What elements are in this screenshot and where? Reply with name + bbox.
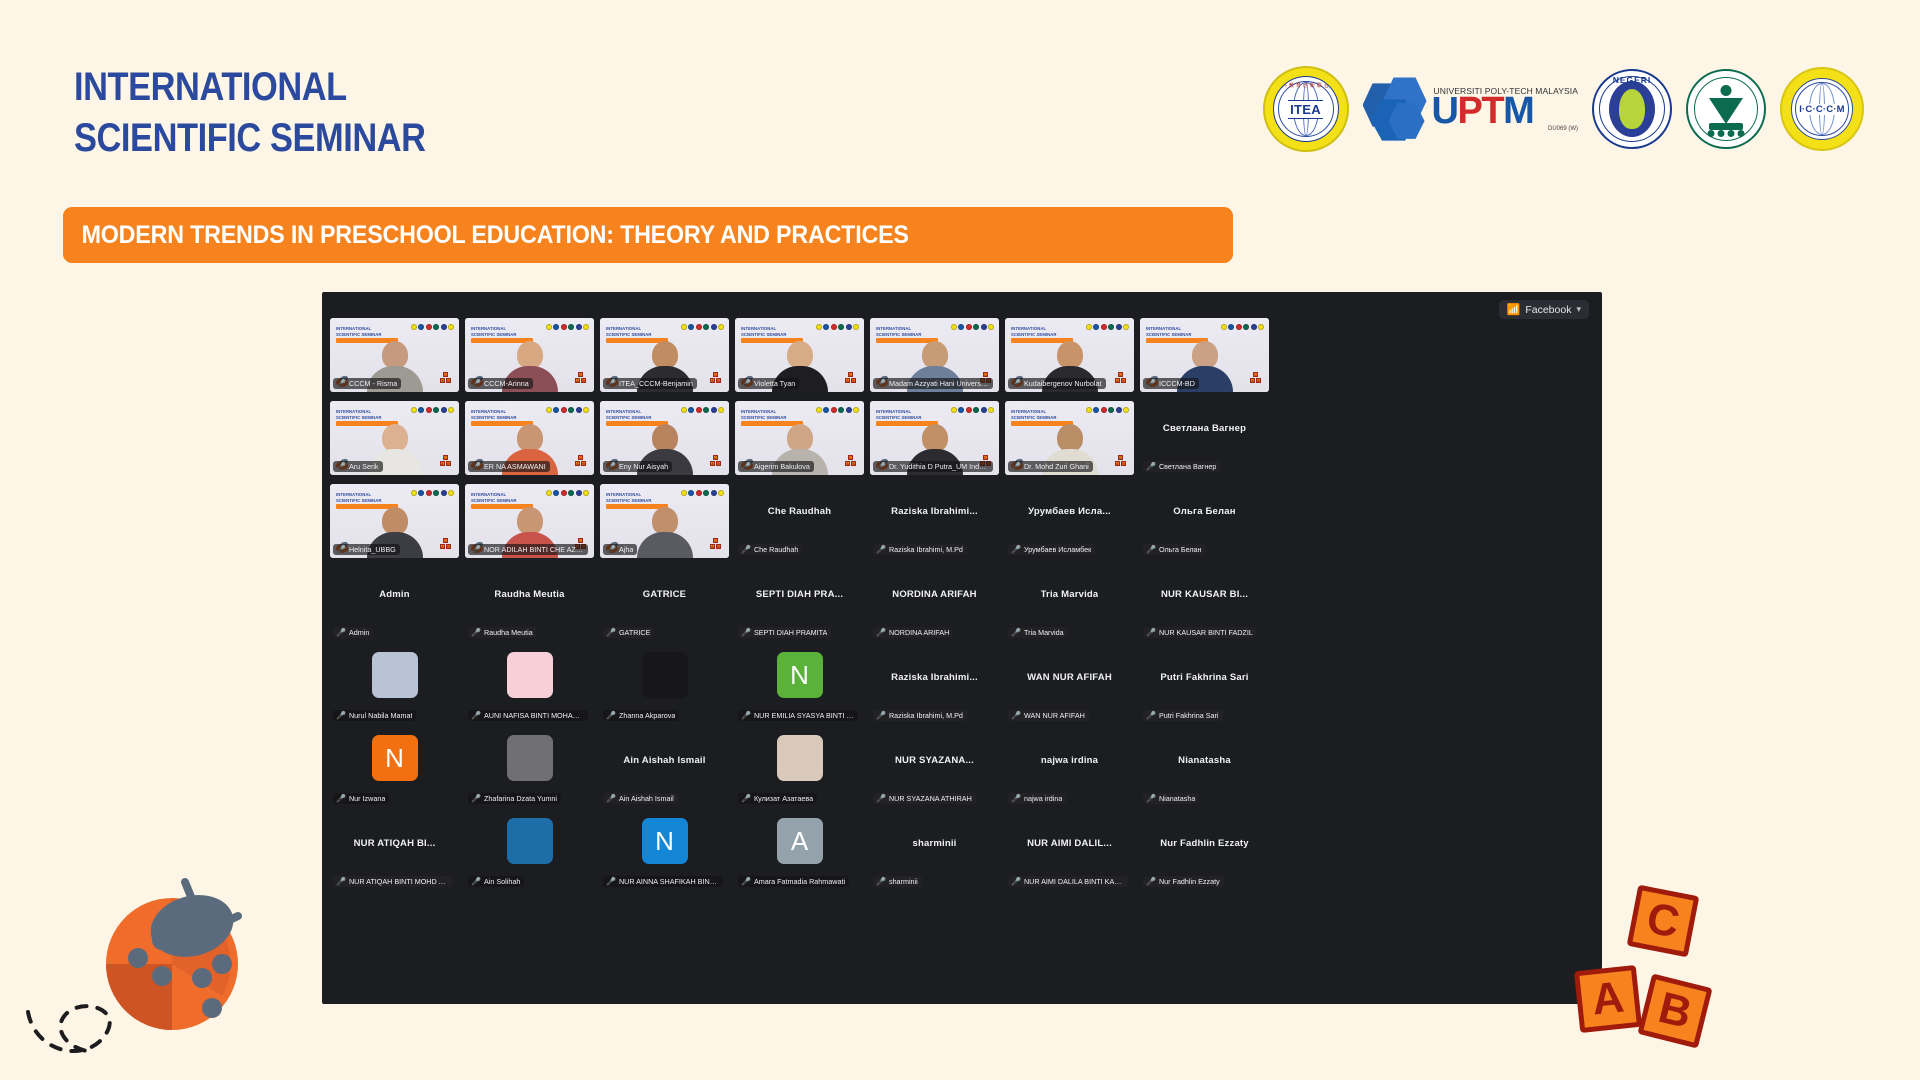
muted-mic-icon: 🎤 xyxy=(1146,379,1156,388)
participant-silhouette xyxy=(637,507,693,558)
page-title-line2: SCIENTIFIC SEMINAR xyxy=(74,113,426,164)
slide-title: INTERNATIONALSCIENTIFIC SEMINAR xyxy=(606,492,652,504)
participant-tile[interactable]: INTERNATIONALSCIENTIFIC SEMINARCAB🎤ICCCM… xyxy=(1140,318,1269,392)
participant-tile[interactable]: NUR AIMI DALIL...🎤NUR AIMI DALILA BINTI … xyxy=(1005,816,1134,890)
participant-tile[interactable]: Nur Fadhlin Ezzaty🎤Nur Fadhlin Ezzaty xyxy=(1140,816,1269,890)
participant-tile[interactable]: N🎤NUR EMILIA SYASYA BINTI MAZLI (K... xyxy=(735,650,864,724)
participant-name: GATRICE xyxy=(619,628,650,637)
participant-name-chip: 🎤NUR ATIQAH BINTI MOHD ASIN xyxy=(333,876,453,887)
participant-name: WAN NUR AFIFAH xyxy=(1024,711,1085,720)
muted-mic-icon: 🎤 xyxy=(741,545,751,554)
participant-display-name: NUR ATIQAH BI... xyxy=(354,838,436,849)
participant-name: NORDINA ARIFAH xyxy=(889,628,949,637)
participant-photo-avatar xyxy=(777,735,823,781)
slide-logo-row xyxy=(411,407,455,413)
muted-mic-icon: 🎤 xyxy=(876,462,886,471)
participant-tile[interactable]: 🎤Nurul Nabila Mamat xyxy=(330,650,459,724)
block-a: A xyxy=(1574,965,1642,1033)
participant-name: Zhafarina Dzata Yumni xyxy=(484,794,557,803)
participant-tile[interactable]: Ольга Белан🎤Ольга Белан xyxy=(1140,484,1269,558)
participant-tile[interactable]: INTERNATIONALSCIENTIFIC SEMINARCAB🎤Aiger… xyxy=(735,401,864,475)
slide-abc-blocks-icon: CAB xyxy=(440,455,451,469)
participant-name-chip: 🎤Kudaibergenov Nurbolat xyxy=(1008,378,1106,389)
participant-name: Dr. Mohd Zuri Ghani xyxy=(1024,462,1089,471)
participant-name: ICCCM-BD xyxy=(1159,379,1195,388)
participant-name: Tria Marvida xyxy=(1024,628,1064,637)
participant-display-name: Raudha Meutia xyxy=(494,589,564,600)
muted-mic-icon: 🎤 xyxy=(606,877,616,886)
participant-display-name: NUR SYAZANA... xyxy=(895,755,974,766)
muted-mic-icon: 🎤 xyxy=(471,711,481,720)
participant-tile[interactable]: Raziska Ibrahimi...🎤Raziska Ibrahimi, M.… xyxy=(870,650,999,724)
participant-display-name: NORDINA ARIFAH xyxy=(892,589,976,600)
participant-name: Ольга Белан xyxy=(1159,545,1202,554)
participant-name-chip: 🎤sharminii xyxy=(873,876,922,887)
participant-name-chip: 🎤Nur Izwana xyxy=(333,793,389,804)
participant-name-chip: 🎤ICCCM-BD xyxy=(1143,378,1199,389)
participant-photo-avatar xyxy=(642,652,688,698)
slide-title: INTERNATIONALSCIENTIFIC SEMINAR xyxy=(336,326,382,338)
participant-display-name: Ольга Белан xyxy=(1173,506,1235,517)
slide-abc-blocks-icon: CAB xyxy=(710,538,721,552)
muted-mic-icon: 🎤 xyxy=(471,628,481,637)
muted-mic-icon: 🎤 xyxy=(606,711,616,720)
slide-logo-row xyxy=(816,407,860,413)
muted-mic-icon: 🎤 xyxy=(471,379,481,388)
participant-tile[interactable]: NUR SYAZANA...🎤NUR SYAZANA ATHIRAH xyxy=(870,733,999,807)
muted-mic-icon: 🎤 xyxy=(606,794,616,803)
muted-mic-icon: 🎤 xyxy=(336,711,346,720)
participant-name-chip: 🎤ITEA_CCCM-Benjamin xyxy=(603,378,697,389)
participant-name: AUNI NAFISA BINTI MOHAMAD SH... xyxy=(484,711,584,720)
participant-tile[interactable]: INTERNATIONALSCIENTIFIC SEMINARCAB🎤Dr. M… xyxy=(1005,401,1134,475)
participant-photo-avatar xyxy=(507,735,553,781)
participant-tile[interactable]: Урумбаев Исла...🎤Урумбаев Исламбек xyxy=(1005,484,1134,558)
slide-title: INTERNATIONALSCIENTIFIC SEMINAR xyxy=(741,326,787,338)
slide-title: INTERNATIONALSCIENTIFIC SEMINAR xyxy=(471,409,517,421)
participant-tile[interactable]: WAN NUR AFIFAH🎤WAN NUR AFIFAH xyxy=(1005,650,1134,724)
abc-blocks-icon: C A B xyxy=(1572,890,1752,1070)
muted-mic-icon: 🎤 xyxy=(741,794,751,803)
muted-mic-icon: 🎤 xyxy=(1011,628,1021,637)
participant-name-chip: 🎤Nur Fadhlin Ezzaty xyxy=(1143,876,1224,887)
slide-title: INTERNATIONALSCIENTIFIC SEMINAR xyxy=(471,326,517,338)
participant-display-name: NUR AIMI DALIL... xyxy=(1027,838,1112,849)
slide-title: INTERNATIONALSCIENTIFIC SEMINAR xyxy=(606,409,652,421)
participant-tile[interactable]: N🎤Nur Izwana xyxy=(330,733,459,807)
participant-name: Che Raudhah xyxy=(754,545,798,554)
participant-name-chip: 🎤Урумбаев Исламбек xyxy=(1008,544,1095,555)
participant-tile[interactable]: INTERNATIONALSCIENTIFIC SEMINARCAB🎤Dr. Y… xyxy=(870,401,999,475)
itea-logo: 中 外 教 育 创 新 联 合 会 ITEA xyxy=(1263,66,1349,152)
participant-name: Nur Fadhlin Ezzaty xyxy=(1159,877,1220,886)
rss-icon: 📶 xyxy=(1507,303,1521,316)
participant-tile[interactable]: INTERNATIONALSCIENTIFIC SEMINARCAB🎤CCCM … xyxy=(330,318,459,392)
participant-tile[interactable]: INTERNATIONALSCIENTIFIC SEMINARCAB🎤CCCM-… xyxy=(465,318,594,392)
participant-initial-avatar: N xyxy=(777,652,823,698)
participant-tile[interactable]: INTERNATIONALSCIENTIFIC SEMINARCAB🎤Ajha xyxy=(600,484,729,558)
slide-title: INTERNATIONALSCIENTIFIC SEMINAR xyxy=(1011,326,1057,338)
muted-mic-icon: 🎤 xyxy=(876,628,886,637)
slide-logo-row xyxy=(1086,324,1130,330)
slide-logo-row xyxy=(951,324,995,330)
subtitle-banner-text: MODERN TRENDS IN PRESCHOOL EDUCATION: TH… xyxy=(63,221,909,250)
participant-display-name: Putri Fakhrina Sari xyxy=(1160,672,1248,683)
participant-name: sharminii xyxy=(889,877,918,886)
participant-name-chip: 🎤Tria Marvida xyxy=(1008,627,1068,638)
muted-mic-icon: 🎤 xyxy=(876,545,886,554)
muted-mic-icon: 🎤 xyxy=(606,379,616,388)
participant-display-name: Nur Fadhlin Ezzaty xyxy=(1160,838,1249,849)
participant-name-chip: 🎤WAN NUR AFIFAH xyxy=(1008,710,1089,721)
chevron-down-icon: ▾ xyxy=(1576,304,1581,315)
slide-abc-blocks-icon: CAB xyxy=(845,372,856,386)
pedagogical-university-logo xyxy=(1686,69,1766,149)
slide-abc-blocks-icon: CAB xyxy=(575,455,586,469)
participant-tile[interactable]: 🎤Zhanna Akparova xyxy=(600,650,729,724)
participant-name-chip: 🎤Violetta Tyan xyxy=(738,378,799,389)
participant-name-chip: 🎤Raudha Meutia xyxy=(468,627,537,638)
muted-mic-icon: 🎤 xyxy=(1011,462,1021,471)
participant-row: NUR ATIQAH BI...🎤NUR ATIQAH BINTI MOHD A… xyxy=(330,816,1594,890)
participant-name-chip: 🎤CCCM - Risma xyxy=(333,378,401,389)
muted-mic-icon: 🎤 xyxy=(606,462,616,471)
participant-name-chip: 🎤Кулизат Азатаева xyxy=(738,793,817,804)
participant-display-name: WAN NUR AFIFAH xyxy=(1027,672,1112,683)
participant-tile[interactable]: najwa irdina🎤najwa irdina xyxy=(1005,733,1134,807)
participant-name-chip: 🎤Nianatasha xyxy=(1143,793,1199,804)
participant-name: NUR ATIQAH BINTI MOHD ASIN xyxy=(349,877,449,886)
slide-abc-blocks-icon: CAB xyxy=(575,372,586,386)
slide-logo-row xyxy=(1221,324,1265,330)
participant-name-chip: 🎤Che Raudhah xyxy=(738,544,802,555)
participant-tile[interactable]: 🎤Кулизат Азатаева xyxy=(735,733,864,807)
participant-display-name: Ain Aishah Ismail xyxy=(623,755,705,766)
participant-name-chip: 🎤NOR ADILAH BINTI CHE AZIS _ xyxy=(468,544,588,555)
participant-name: Кулизат Азатаева xyxy=(754,794,813,803)
participant-tile[interactable]: N🎤NUR AINNA SHAFIKAH BINTI MAH... xyxy=(600,816,729,890)
slide-logo-row xyxy=(546,324,590,330)
participant-tile[interactable]: Светлана Вагнер🎤Светлана Вагнер xyxy=(1140,401,1269,475)
uptm-hex-mark xyxy=(1363,76,1429,142)
participant-name-chip: 🎤NUR SYAZANA ATHIRAH xyxy=(873,793,976,804)
slide-logo-row xyxy=(411,490,455,496)
participant-name-chip: 🎤Aru Serik xyxy=(333,461,383,472)
participant-name: Урумбаев Исламбек xyxy=(1024,545,1091,554)
participant-name-chip: 🎤Zhanna Akparova xyxy=(603,710,679,721)
muted-mic-icon: 🎤 xyxy=(336,628,346,637)
participant-name: Nur Izwana xyxy=(349,794,385,803)
participant-name: SEPTI DIAH PRAMITA xyxy=(754,628,827,637)
muted-mic-icon: 🎤 xyxy=(336,379,346,388)
block-b: B xyxy=(1637,973,1712,1048)
muted-mic-icon: 🎤 xyxy=(1146,462,1156,471)
participant-tile[interactable]: NORDINA ARIFAH🎤NORDINA ARIFAH xyxy=(870,567,999,641)
participant-name: najwa irdina xyxy=(1024,794,1062,803)
slide-abc-blocks-icon: CAB xyxy=(440,538,451,552)
muted-mic-icon: 🎤 xyxy=(1011,711,1021,720)
muted-mic-icon: 🎤 xyxy=(1146,628,1156,637)
participant-name-chip: 🎤Raziska Ibrahimi, M.Pd xyxy=(873,544,967,555)
muted-mic-icon: 🎤 xyxy=(606,545,616,554)
slide-logo-row xyxy=(546,407,590,413)
universitas-negeri-malang-logo: NEGERI xyxy=(1592,69,1672,149)
subtitle-banner: MODERN TRENDS IN PRESCHOOL EDUCATION: TH… xyxy=(63,207,1233,263)
stream-label: Facebook xyxy=(1525,304,1571,316)
participant-display-name: NUR KAUSAR BI... xyxy=(1161,589,1248,600)
slide-abc-blocks-icon: CAB xyxy=(440,372,451,386)
slide-logo-row xyxy=(681,324,725,330)
participant-photo-avatar xyxy=(507,818,553,864)
participant-row: Admin🎤AdminRaudha Meutia🎤Raudha MeutiaGA… xyxy=(330,567,1594,641)
participant-initial-avatar: A xyxy=(777,818,823,864)
participant-tile[interactable]: A🎤Amara Fatmadia Rahmawati xyxy=(735,816,864,890)
muted-mic-icon: 🎤 xyxy=(1146,794,1156,803)
participant-name: Nurul Nabila Mamat xyxy=(349,711,413,720)
participant-name: CCCM - Risma xyxy=(349,379,397,388)
participant-name-chip: 🎤Nurul Nabila Mamat xyxy=(333,710,416,721)
slide-abc-blocks-icon: CAB xyxy=(710,455,721,469)
participant-name-chip: 🎤NORDINA ARIFAH xyxy=(873,627,953,638)
participant-name: Violetta Tyan xyxy=(754,379,795,388)
participant-tile[interactable]: NUR KAUSAR BI...🎤NUR KAUSAR BINTI FADZIL xyxy=(1140,567,1269,641)
participant-tile[interactable]: INTERNATIONALSCIENTIFIC SEMINARCAB🎤Helni… xyxy=(330,484,459,558)
muted-mic-icon: 🎤 xyxy=(336,794,346,803)
muted-mic-icon: 🎤 xyxy=(741,379,751,388)
slide-title: INTERNATIONALSCIENTIFIC SEMINAR xyxy=(336,409,382,421)
muted-mic-icon: 🎤 xyxy=(741,628,751,637)
slide-logo-row xyxy=(546,490,590,496)
participant-name: Amara Fatmadia Rahmawati xyxy=(754,877,845,886)
participant-name-chip: 🎤Putri Fakhrina Sari xyxy=(1143,710,1223,721)
participant-name: Ain Aishah Ismail xyxy=(619,794,674,803)
muted-mic-icon: 🎤 xyxy=(741,711,751,720)
participant-name: NUR EMILIA SYASYA BINTI MAZLI (K... xyxy=(754,711,854,720)
participant-name: NUR SYAZANA ATHIRAH xyxy=(889,794,972,803)
stream-status-chip[interactable]: 📶 Facebook ▾ xyxy=(1499,300,1589,319)
participant-name: Aigerim Bakulova xyxy=(754,462,810,471)
page-title: INTERNATIONAL SCIENTIFIC SEMINAR xyxy=(74,62,426,164)
participant-tile[interactable]: Admin🎤Admin xyxy=(330,567,459,641)
muted-mic-icon: 🎤 xyxy=(1146,711,1156,720)
participant-grid: INTERNATIONALSCIENTIFIC SEMINARCAB🎤CCCM … xyxy=(330,318,1594,1000)
participant-tile[interactable]: INTERNATIONALSCIENTIFIC SEMINARCAB🎤Viole… xyxy=(735,318,864,392)
icccm-logo: I·C·C·C·M xyxy=(1780,67,1864,151)
slide-logo-row xyxy=(951,407,995,413)
participant-display-name: Урумбаев Исла... xyxy=(1028,506,1111,517)
participant-tile[interactable]: SEPTI DIAH PRA...🎤SEPTI DIAH PRAMITA xyxy=(735,567,864,641)
slide-title: INTERNATIONALSCIENTIFIC SEMINAR xyxy=(741,409,787,421)
participant-name: Helnita_UBBG xyxy=(349,545,396,554)
participant-name: Светлана Вагнер xyxy=(1159,462,1216,471)
slide-abc-blocks-icon: CAB xyxy=(1115,372,1126,386)
participant-tile[interactable]: GATRICE🎤GATRICE xyxy=(600,567,729,641)
participant-name: Raziska Ibrahimi, M.Pd xyxy=(889,711,963,720)
muted-mic-icon: 🎤 xyxy=(471,794,481,803)
slide-title: INTERNATIONALSCIENTIFIC SEMINAR xyxy=(606,326,652,338)
participant-name: Ajha xyxy=(619,545,633,554)
participant-name-chip: 🎤CCCM-Arinna xyxy=(468,378,533,389)
participant-tile[interactable]: Raudha Meutia🎤Raudha Meutia xyxy=(465,567,594,641)
participant-display-name: Che Raudhah xyxy=(768,506,831,517)
participant-name-chip: 🎤SEPTI DIAH PRAMITA xyxy=(738,627,831,638)
participant-tile[interactable]: Nianatasha🎤Nianatasha xyxy=(1140,733,1269,807)
participant-display-name: Светлана Вагнер xyxy=(1163,423,1246,434)
participant-tile[interactable]: INTERNATIONALSCIENTIFIC SEMINARCAB🎤ER NA… xyxy=(465,401,594,475)
participant-display-name: GATRICE xyxy=(643,589,686,600)
participant-name: Admin xyxy=(349,628,369,637)
slide-abc-blocks-icon: CAB xyxy=(1115,455,1126,469)
slide-title: INTERNATIONALSCIENTIFIC SEMINAR xyxy=(876,326,922,338)
participant-name-chip: 🎤Helnita_UBBG xyxy=(333,544,400,555)
participant-name-chip: 🎤Ain Solihah xyxy=(468,876,524,887)
participant-name-chip: 🎤Ain Aishah Ismail xyxy=(603,793,678,804)
participant-initial-avatar: N xyxy=(372,735,418,781)
participant-name: Raudha Meutia xyxy=(484,628,533,637)
participant-name-chip: 🎤Dr. Yudithia D Putra_UM Indonesia xyxy=(873,461,993,472)
participant-photo-avatar xyxy=(507,652,553,698)
participant-name: NUR KAUSAR BINTI FADZIL xyxy=(1159,628,1253,637)
participant-name-chip: 🎤Aigerim Bakulova xyxy=(738,461,814,472)
poster-page: INTERNATIONAL SCIENTIFIC SEMINAR MODERN … xyxy=(0,0,1920,1080)
participant-tile[interactable]: sharminii🎤sharminii xyxy=(870,816,999,890)
participant-tile[interactable]: 🎤AUNI NAFISA BINTI MOHAMAD SH... xyxy=(465,650,594,724)
participant-name-chip: 🎤Ajha xyxy=(603,544,637,555)
participant-name-chip: 🎤najwa irdina xyxy=(1008,793,1066,804)
uptm-logo: UNIVERSITI POLY-TECH MALAYSIA UPTM DU069… xyxy=(1363,71,1578,147)
participant-name: NOR ADILAH BINTI CHE AZIS _ xyxy=(484,545,584,554)
participant-photo-avatar xyxy=(372,652,418,698)
slide-logo-row xyxy=(681,490,725,496)
participant-display-name: sharminii xyxy=(912,838,956,849)
participant-name-chip: 🎤AUNI NAFISA BINTI MOHAMAD SH... xyxy=(468,710,588,721)
participant-name-chip: 🎤Zhafarina Dzata Yumni xyxy=(468,793,561,804)
participant-tile[interactable]: INTERNATIONALSCIENTIFIC SEMINARCAB🎤ITEA_… xyxy=(600,318,729,392)
slide-logo-row xyxy=(681,407,725,413)
muted-mic-icon: 🎤 xyxy=(1011,794,1021,803)
slide-abc-blocks-icon: CAB xyxy=(710,372,721,386)
slide-logo-row xyxy=(1086,407,1130,413)
muted-mic-icon: 🎤 xyxy=(336,462,346,471)
participant-display-name: Admin xyxy=(379,589,410,600)
muted-mic-icon: 🎤 xyxy=(471,462,481,471)
participant-name-chip: 🎤Ольга Белан xyxy=(1143,544,1206,555)
participant-name: Dr. Yudithia D Putra_UM Indonesia xyxy=(889,462,989,471)
dashed-trail xyxy=(22,994,202,1064)
participant-initial-avatar: N xyxy=(642,818,688,864)
muted-mic-icon: 🎤 xyxy=(741,462,751,471)
participant-name: CCCM-Arinna xyxy=(484,379,529,388)
participant-tile[interactable]: Raziska Ibrahimi...🎤Raziska Ibrahimi, M.… xyxy=(870,484,999,558)
muted-mic-icon: 🎤 xyxy=(1011,877,1021,886)
muted-mic-icon: 🎤 xyxy=(876,877,886,886)
slide-title: INTERNATIONALSCIENTIFIC SEMINAR xyxy=(471,492,517,504)
uptm-acronym: UPTM xyxy=(1432,94,1578,128)
participant-name: Aru Serik xyxy=(349,462,379,471)
logo-strip: 中 外 教 育 创 新 联 合 会 ITEA UNIVERSITI POLY-T… xyxy=(1263,66,1864,152)
participant-display-name: najwa irdina xyxy=(1041,755,1098,766)
participant-row: N🎤Nur Izwana🎤Zhafarina Dzata YumniAin Ai… xyxy=(330,733,1594,807)
participant-name-chip: 🎤Светлана Вагнер xyxy=(1143,461,1220,472)
participant-name: Putri Fakhrina Sari xyxy=(1159,711,1219,720)
muted-mic-icon: 🎤 xyxy=(876,379,886,388)
slide-logo-row xyxy=(411,324,455,330)
participant-name: ER NA ASMAWANI xyxy=(484,462,546,471)
participant-display-name: Nianatasha xyxy=(1178,755,1231,766)
itea-logo-label: ITEA xyxy=(1288,100,1323,119)
participant-name-chip: 🎤ER NA ASMAWANI xyxy=(468,461,550,472)
participant-name-chip: 🎤Madam Azzyati Hani University Pol... xyxy=(873,378,993,389)
block-c: C xyxy=(1627,885,1700,958)
participant-name-chip: 🎤Admin xyxy=(333,627,373,638)
muted-mic-icon: 🎤 xyxy=(1011,379,1021,388)
page-title-line1: INTERNATIONAL xyxy=(74,65,347,109)
slide-title: INTERNATIONALSCIENTIFIC SEMINAR xyxy=(1146,326,1192,338)
participant-name-chip: 🎤NUR KAUSAR BINTI FADZIL xyxy=(1143,627,1257,638)
icccm-logo-label: I·C·C·C·M xyxy=(1797,104,1847,115)
participant-name-chip: 🎤NUR EMILIA SYASYA BINTI MAZLI (K... xyxy=(738,710,858,721)
participant-name: Kudaibergenov Nurbolat xyxy=(1024,379,1102,388)
participant-display-name: SEPTI DIAH PRA... xyxy=(756,589,843,600)
muted-mic-icon: 🎤 xyxy=(876,794,886,803)
participant-tile[interactable]: Che Raudhah🎤Che Raudhah xyxy=(735,484,864,558)
participant-row: INTERNATIONALSCIENTIFIC SEMINARCAB🎤Helni… xyxy=(330,484,1594,558)
slide-title: INTERNATIONALSCIENTIFIC SEMINAR xyxy=(876,409,922,421)
participant-tile[interactable]: Ain Aishah Ismail🎤Ain Aishah Ismail xyxy=(600,733,729,807)
participant-row: 🎤Nurul Nabila Mamat🎤AUNI NAFISA BINTI MO… xyxy=(330,650,1594,724)
participant-name: NUR AIMI DALILA BINTI KAMARUDIN xyxy=(1024,877,1124,886)
participant-name: Nianatasha xyxy=(1159,794,1195,803)
participant-name: Madam Azzyati Hani University Pol... xyxy=(889,379,989,388)
participant-name: Eny Nur Aisyah xyxy=(619,462,668,471)
participant-row: INTERNATIONALSCIENTIFIC SEMINARCAB🎤Aru S… xyxy=(330,401,1594,475)
participant-name-chip: 🎤NUR AINNA SHAFIKAH BINTI MAH... xyxy=(603,876,723,887)
slide-logo-row xyxy=(816,324,860,330)
participant-name-chip: 🎤GATRICE xyxy=(603,627,654,638)
slide-title: INTERNATIONALSCIENTIFIC SEMINAR xyxy=(1011,409,1057,421)
muted-mic-icon: 🎤 xyxy=(1146,545,1156,554)
participant-tile[interactable]: INTERNATIONALSCIENTIFIC SEMINARCAB🎤Madam… xyxy=(870,318,999,392)
participant-row: INTERNATIONALSCIENTIFIC SEMINARCAB🎤CCCM … xyxy=(330,318,1594,392)
muted-mic-icon: 🎤 xyxy=(1011,545,1021,554)
muted-mic-icon: 🎤 xyxy=(741,877,751,886)
muted-mic-icon: 🎤 xyxy=(336,877,346,886)
participant-name-chip: 🎤NUR AIMI DALILA BINTI KAMARUDIN xyxy=(1008,876,1128,887)
video-conference-panel: 📶 Facebook ▾ INTERNATIONALSCIENTIFIC SEM… xyxy=(322,292,1602,1004)
muted-mic-icon: 🎤 xyxy=(336,545,346,554)
participant-tile[interactable]: Tria Marvida🎤Tria Marvida xyxy=(1005,567,1134,641)
participant-tile[interactable]: 🎤Zhafarina Dzata Yumni xyxy=(465,733,594,807)
muted-mic-icon: 🎤 xyxy=(606,628,616,637)
participant-name-chip: 🎤Eny Nur Aisyah xyxy=(603,461,672,472)
participant-tile[interactable]: 🎤Ain Solihah xyxy=(465,816,594,890)
participant-display-name: Raziska Ibrahimi... xyxy=(891,506,978,517)
participant-tile[interactable]: INTERNATIONALSCIENTIFIC SEMINARCAB🎤Kudai… xyxy=(1005,318,1134,392)
participant-name-chip: 🎤Dr. Mohd Zuri Ghani xyxy=(1008,461,1093,472)
uptm-code: DU069 (W) xyxy=(1432,126,1578,132)
participant-tile[interactable]: INTERNATIONALSCIENTIFIC SEMINARCAB🎤Eny N… xyxy=(600,401,729,475)
muted-mic-icon: 🎤 xyxy=(1146,877,1156,886)
participant-tile[interactable]: INTERNATIONALSCIENTIFIC SEMINARCAB🎤NOR A… xyxy=(465,484,594,558)
participant-tile[interactable]: Putri Fakhrina Sari🎤Putri Fakhrina Sari xyxy=(1140,650,1269,724)
participant-display-name: Tria Marvida xyxy=(1041,589,1099,600)
slide-abc-blocks-icon: CAB xyxy=(845,455,856,469)
muted-mic-icon: 🎤 xyxy=(876,711,886,720)
participant-name: Ain Solihah xyxy=(484,877,520,886)
participant-tile[interactable]: NUR ATIQAH BI...🎤NUR ATIQAH BINTI MOHD A… xyxy=(330,816,459,890)
muted-mic-icon: 🎤 xyxy=(471,545,481,554)
participant-tile[interactable]: INTERNATIONALSCIENTIFIC SEMINARCAB🎤Aru S… xyxy=(330,401,459,475)
